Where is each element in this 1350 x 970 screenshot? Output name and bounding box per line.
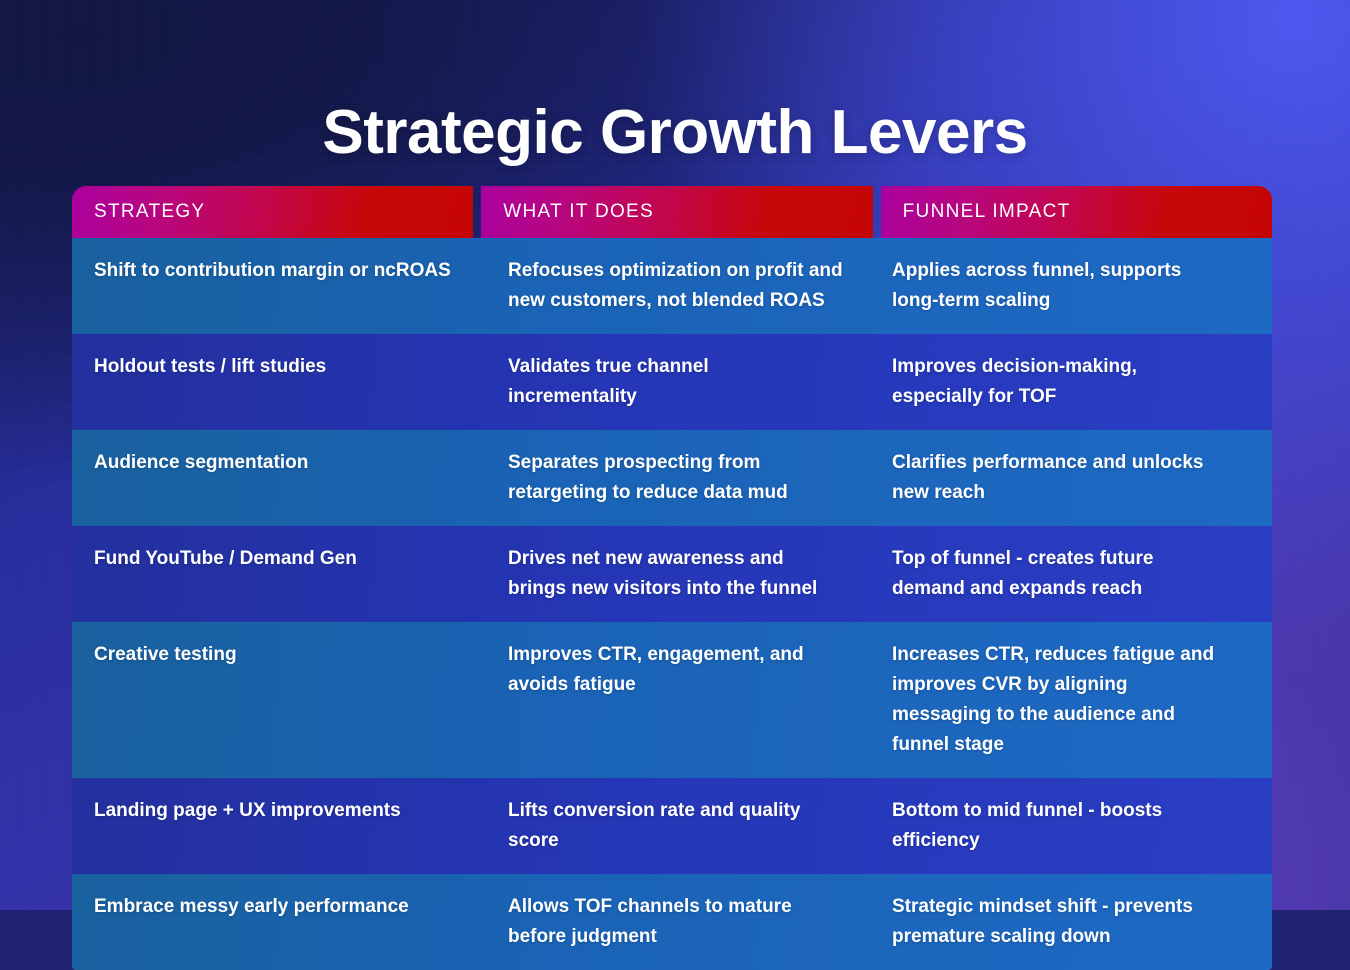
table-row: Creative testing Improves CTR, engagemen…: [72, 622, 1272, 778]
cell-line: Clarifies performance and unlocks: [892, 448, 1248, 478]
cell-funnel-impact: Improves decision-making, especially for…: [878, 334, 1272, 430]
cell-strategy: Holdout tests / lift studies: [72, 334, 484, 430]
cell-line: new customers, not blended ROAS: [508, 286, 854, 316]
cell-funnel-impact: Applies across funnel, supports long-ter…: [878, 238, 1272, 334]
column-header-what-it-does: WHAT IT DOES: [481, 186, 872, 238]
table-row: Fund YouTube / Demand Gen Drives net new…: [72, 526, 1272, 622]
table-row: Audience segmentation Separates prospect…: [72, 430, 1272, 526]
cell-strategy: Embrace messy early performance: [72, 874, 484, 970]
cell-line: funnel stage: [892, 730, 1248, 760]
cell-line: retargeting to reduce data mud: [508, 478, 854, 508]
cell-line: Holdout tests / lift studies: [94, 352, 460, 382]
cell-line: Fund YouTube / Demand Gen: [94, 544, 460, 574]
cell-strategy: Creative testing: [72, 622, 484, 778]
cell-line: before judgment: [508, 922, 854, 952]
cell-line: Landing page + UX improvements: [94, 796, 460, 826]
cell-line: new reach: [892, 478, 1248, 508]
cell-line: Embrace messy early performance: [94, 892, 460, 922]
cell-strategy: Landing page + UX improvements: [72, 778, 484, 874]
cell-line: Increases CTR, reduces fatigue and: [892, 640, 1248, 670]
cell-line: Lifts conversion rate and quality: [508, 796, 854, 826]
cell-line: incrementality: [508, 382, 854, 412]
cell-line: demand and expands reach: [892, 574, 1248, 604]
column-header-strategy-label: STRATEGY: [94, 201, 205, 223]
cell-what-it-does: Separates prospecting from retargeting t…: [484, 430, 878, 526]
cell-line: Top of funnel - creates future: [892, 544, 1248, 574]
cell-strategy: Shift to contribution margin or ncROAS: [72, 238, 484, 334]
table-row: Shift to contribution margin or ncROAS R…: [72, 238, 1272, 334]
table-body: Shift to contribution margin or ncROAS R…: [72, 238, 1272, 970]
cell-what-it-does: Refocuses optimization on profit and new…: [484, 238, 878, 334]
cell-line: Improves decision-making,: [892, 352, 1248, 382]
cell-line: premature scaling down: [892, 922, 1248, 952]
cell-line: Audience segmentation: [94, 448, 460, 478]
cell-what-it-does: Lifts conversion rate and quality score: [484, 778, 878, 874]
cell-line: improves CVR by aligning: [892, 670, 1248, 700]
cell-what-it-does: Improves CTR, engagement, and avoids fat…: [484, 622, 878, 778]
column-header-funnel-impact: FUNNEL IMPACT: [881, 186, 1272, 238]
cell-line: Bottom to mid funnel - boosts: [892, 796, 1248, 826]
cell-line: Validates true channel: [508, 352, 854, 382]
page-title: Strategic Growth Levers: [0, 102, 1350, 164]
cell-funnel-impact: Strategic mindset shift - prevents prema…: [878, 874, 1272, 970]
cell-funnel-impact: Clarifies performance and unlocks new re…: [878, 430, 1272, 526]
cell-line: especially for TOF: [892, 382, 1248, 412]
strategy-table: STRATEGY WHAT IT DOES FUNNEL IMPACT Shif…: [72, 186, 1272, 970]
cell-what-it-does: Validates true channel incrementality: [484, 334, 878, 430]
table-header-row: STRATEGY WHAT IT DOES FUNNEL IMPACT: [72, 186, 1272, 238]
cell-funnel-impact: Bottom to mid funnel - boosts efficiency: [878, 778, 1272, 874]
table-row: Landing page + UX improvements Lifts con…: [72, 778, 1272, 874]
column-header-what-it-does-label: WHAT IT DOES: [503, 201, 654, 223]
cell-line: score: [508, 826, 854, 856]
cell-funnel-impact: Top of funnel - creates future demand an…: [878, 526, 1272, 622]
cell-line: Strategic mindset shift - prevents: [892, 892, 1248, 922]
cell-line: Allows TOF channels to mature: [508, 892, 854, 922]
cell-what-it-does: Allows TOF channels to mature before jud…: [484, 874, 878, 970]
cell-what-it-does: Drives net new awareness and brings new …: [484, 526, 878, 622]
cell-funnel-impact: Increases CTR, reduces fatigue and impro…: [878, 622, 1272, 778]
table-row: Embrace messy early performance Allows T…: [72, 874, 1272, 970]
cell-line: efficiency: [892, 826, 1248, 856]
cell-line: messaging to the audience and: [892, 700, 1248, 730]
cell-line: Applies across funnel, supports: [892, 256, 1248, 286]
cell-line: avoids fatigue: [508, 670, 854, 700]
cell-line: Shift to contribution margin or ncROAS: [94, 256, 460, 286]
column-header-funnel-impact-label: FUNNEL IMPACT: [903, 201, 1071, 223]
cell-strategy: Audience segmentation: [72, 430, 484, 526]
column-header-strategy: STRATEGY: [72, 186, 473, 238]
cell-line: Drives net new awareness and: [508, 544, 854, 574]
cell-line: Separates prospecting from: [508, 448, 854, 478]
cell-line: long-term scaling: [892, 286, 1248, 316]
cell-line: brings new visitors into the funnel: [508, 574, 854, 604]
cell-line: Creative testing: [94, 640, 460, 670]
cell-strategy: Fund YouTube / Demand Gen: [72, 526, 484, 622]
table-row: Holdout tests / lift studies Validates t…: [72, 334, 1272, 430]
cell-line: Refocuses optimization on profit and: [508, 256, 854, 286]
cell-line: Improves CTR, engagement, and: [508, 640, 854, 670]
